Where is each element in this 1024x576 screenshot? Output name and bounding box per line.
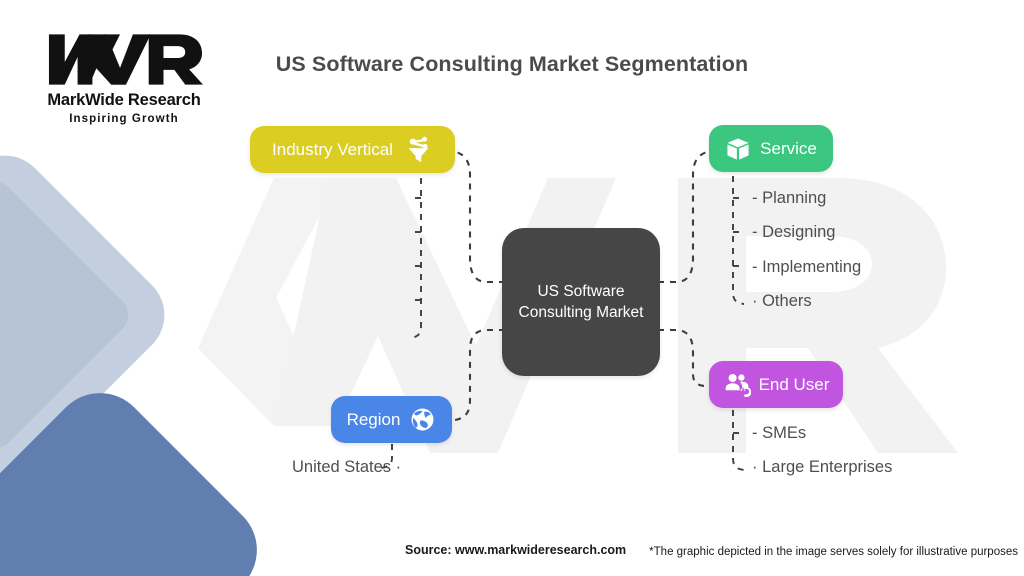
branch-item-label: Designing bbox=[762, 223, 835, 241]
list-item[interactable]: - Implementing bbox=[752, 259, 861, 276]
list-item[interactable]: - Planning bbox=[752, 190, 826, 207]
brand-tagline: Inspiring Growth bbox=[34, 113, 214, 125]
branch-label-end-user: End User bbox=[759, 376, 830, 393]
leaf-dash: - bbox=[752, 189, 762, 207]
connector-center-to-region bbox=[455, 330, 505, 420]
connector-service-spine bbox=[733, 176, 744, 304]
list-item[interactable]: · Large Enterprises bbox=[752, 459, 892, 476]
decorative-square-dark bbox=[0, 373, 277, 576]
list-item[interactable]: - Designing bbox=[752, 224, 835, 241]
branch-item-label: Implementing bbox=[762, 258, 861, 276]
branch-item-label: Large Enterprises bbox=[762, 458, 892, 476]
leaf-dash: - bbox=[752, 424, 762, 442]
list-item[interactable]: United States · bbox=[292, 459, 401, 476]
page-title: US Software Consulting Market Segmentati… bbox=[0, 52, 1024, 77]
connector-center-to-enduser bbox=[658, 330, 706, 386]
branch-item-label: Planning bbox=[762, 189, 826, 207]
source-label: Source: www.markwideresearch.com bbox=[405, 543, 626, 557]
leaf-dash: · bbox=[396, 458, 402, 476]
connector-industry-spine bbox=[410, 178, 421, 338]
connector-center-to-service bbox=[658, 152, 707, 282]
leaf-dash: · bbox=[752, 458, 762, 476]
users-refresh-icon bbox=[723, 371, 751, 399]
leaf-dash: - bbox=[752, 223, 762, 241]
decorative-square-faint bbox=[0, 174, 136, 457]
connector-enduser-spine bbox=[733, 410, 744, 470]
leaf-dash: - bbox=[752, 258, 762, 276]
branch-item-label: Others bbox=[762, 292, 812, 310]
branch-badge-region[interactable]: Region bbox=[331, 396, 452, 443]
branch-item-label: United States bbox=[292, 458, 391, 476]
brand-name: MarkWide Research bbox=[34, 91, 214, 110]
filter-funnel-nodes-icon bbox=[403, 135, 433, 165]
branch-item-label: SMEs bbox=[762, 424, 806, 442]
branch-badge-service[interactable]: Service bbox=[709, 125, 833, 172]
center-node[interactable]: US Software Consulting Market bbox=[502, 228, 660, 376]
branch-badge-industry-vertical[interactable]: Industry Vertical bbox=[250, 126, 455, 173]
list-item[interactable]: - SMEs bbox=[752, 425, 806, 442]
disclaimer-label: *The graphic depicted in the image serve… bbox=[649, 546, 1018, 558]
center-node-label: US Software Consulting Market bbox=[512, 281, 650, 324]
globe-icon bbox=[409, 406, 436, 433]
connector-center-to-industry bbox=[456, 152, 505, 282]
leaf-dash: · bbox=[752, 292, 762, 310]
box-cube-icon bbox=[725, 136, 751, 162]
list-item[interactable]: · Others bbox=[752, 293, 812, 310]
branch-badge-end-user[interactable]: End User bbox=[709, 361, 843, 408]
decorative-square-light bbox=[0, 138, 182, 492]
branch-label-service: Service bbox=[760, 140, 817, 157]
branch-label-industry-vertical: Industry Vertical bbox=[272, 141, 393, 158]
branch-label-region: Region bbox=[347, 411, 401, 428]
infographic-canvas: MarkWide Research Inspiring Growth US So… bbox=[0, 0, 1024, 576]
